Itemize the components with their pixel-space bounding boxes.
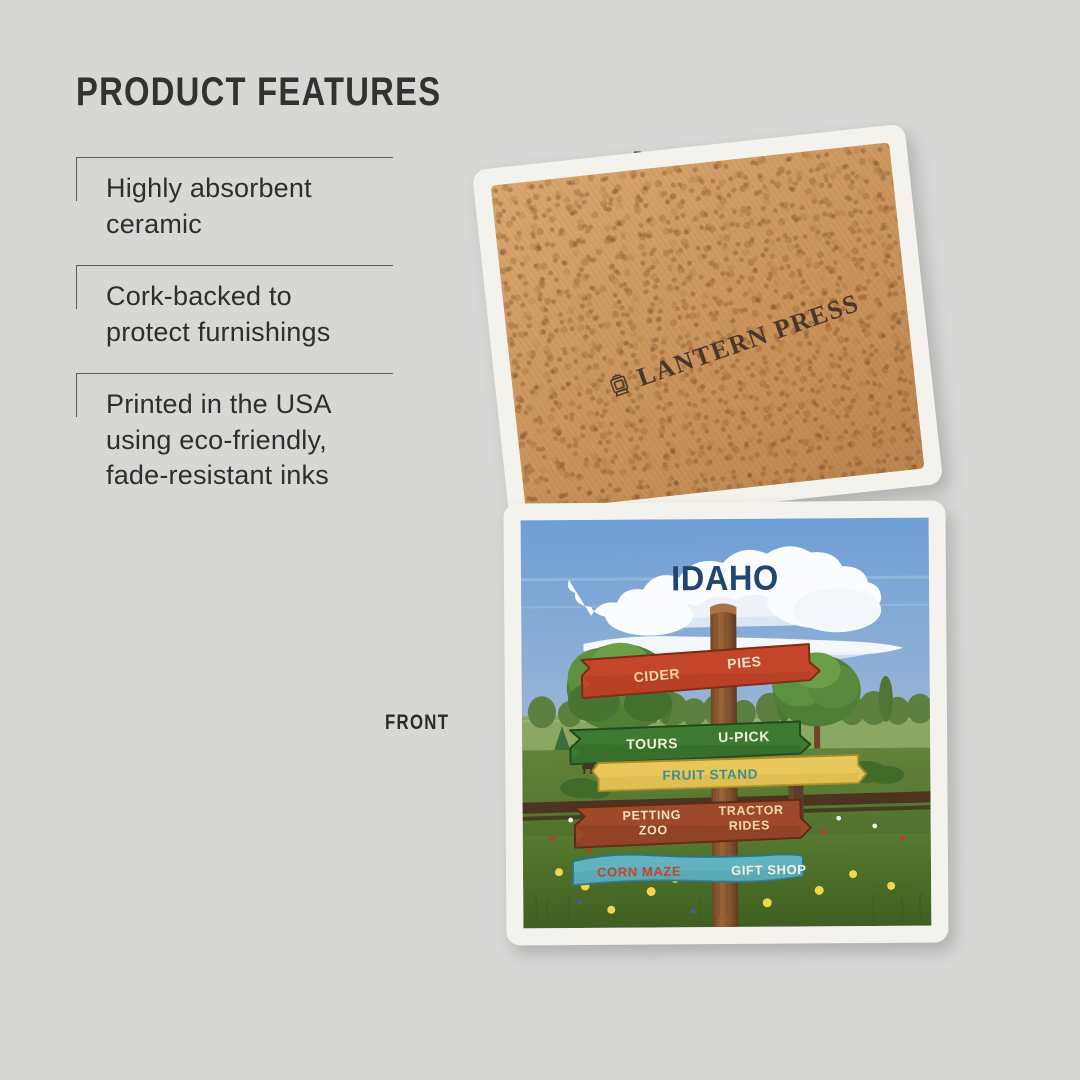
feature-text: Highly absorbent ceramic (106, 171, 416, 243)
sign-label-tractor-rides-line2: RIDES (729, 818, 770, 833)
feature-list: Highly absorbent ceramic Cork-backed to … (76, 157, 416, 516)
feature-bracket-tick (76, 157, 77, 201)
artwork-title: IDAHO (671, 559, 779, 599)
sign-label-upick: U-PICK (718, 728, 770, 745)
front-label: FRONT (385, 711, 449, 735)
feature-text: Printed in the USA using eco-friendly, f… (106, 387, 416, 495)
sign-label-pies: PIES (727, 653, 763, 672)
sign-label-gift-shop: GIFT SHOP (731, 862, 807, 878)
feature-item-cork-backed: Cork-backed to protect furnishings (76, 265, 416, 373)
sign-label-corn-maze: CORN MAZE (597, 864, 681, 880)
sign-corn-maze-gift-shop: CORN MAZE GIFT SHOP (573, 852, 807, 885)
coaster-artwork: IDAHO (521, 518, 932, 929)
sign-label-tractor-rides: TRACTOR (718, 803, 783, 818)
idaho-signpost-illustration: IDAHO (521, 518, 932, 929)
sign-label-petting-zoo-line2: ZOO (639, 823, 668, 838)
page-title: PRODUCT FEATURES (76, 72, 355, 112)
feature-divider (76, 373, 393, 374)
feature-item-absorbent: Highly absorbent ceramic (76, 157, 416, 265)
cork-texture (490, 142, 924, 511)
feature-bracket-tick (76, 373, 77, 417)
coaster-front: IDAHO (503, 500, 948, 945)
coaster-back: LANTERN PRESS (472, 124, 944, 531)
sign-label-petting-zoo: PETTING (622, 808, 681, 823)
sign-label-tours: TOURS (626, 735, 678, 752)
feature-divider (76, 265, 393, 266)
feature-bracket-tick (76, 265, 77, 309)
feature-text: Cork-backed to protect furnishings (106, 279, 416, 351)
feature-item-printed-usa: Printed in the USA using eco-friendly, f… (76, 373, 416, 517)
sign-label-fruit-stand: FRUIT STAND (662, 767, 758, 783)
product-features-panel: PRODUCT FEATURES Highly absorbent cerami… (76, 72, 416, 516)
feature-divider (76, 157, 393, 158)
product-listing-image: PRODUCT FEATURES Highly absorbent cerami… (0, 0, 1080, 1080)
cork-backing (490, 142, 924, 511)
